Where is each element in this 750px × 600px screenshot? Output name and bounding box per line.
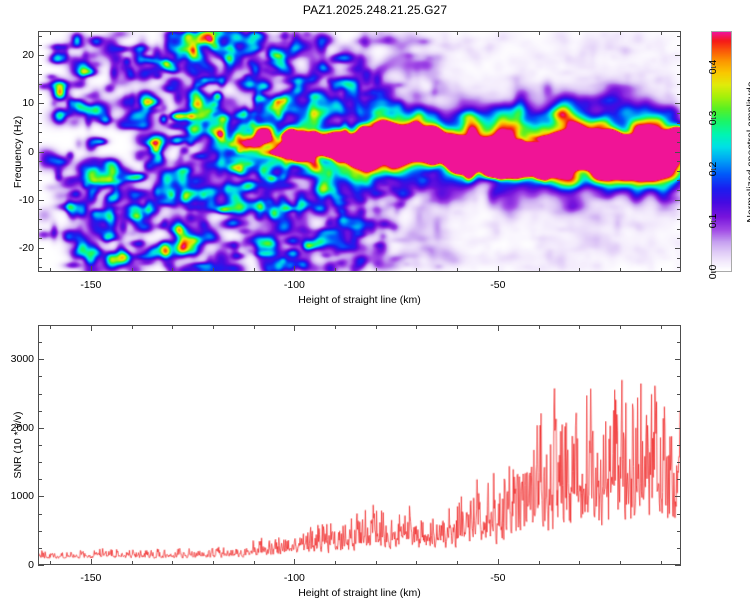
spectrogram-x-axis-title: Height of straight line (km) [298,294,421,306]
y-tick [677,94,681,95]
x-tick [172,268,173,272]
y-tick [677,514,681,515]
snr-line-trace [39,326,680,564]
x-tick [498,325,499,331]
y-tick [677,376,681,377]
y-tick [677,238,681,239]
y-tick [38,142,42,143]
x-tick [254,561,255,565]
x-tick [213,325,214,329]
y-tick [38,248,44,249]
x-tick-label: -100 [284,572,305,584]
y-tick [38,45,42,46]
y-tick-label: 20 [10,49,34,61]
y-tick [38,74,42,75]
x-tick [661,561,662,565]
y-tick [677,394,681,395]
x-tick [620,31,621,35]
spectrogram-image [39,32,680,271]
y-tick [677,180,681,181]
y-tick [38,496,44,497]
x-tick [335,561,336,565]
x-tick [579,325,580,329]
y-tick [38,123,42,124]
x-tick [50,268,51,272]
y-tick [38,84,42,85]
y-tick [38,462,42,463]
x-tick [254,325,255,329]
y-tick [677,411,681,412]
y-tick [677,229,681,230]
y-tick [675,103,681,104]
x-tick [91,559,92,565]
x-tick [539,325,540,329]
x-tick [457,31,458,35]
x-tick [91,325,92,331]
x-tick [50,561,51,565]
x-tick [172,31,173,35]
colorbar-tick-label: 0.3 [707,111,719,126]
x-tick [335,268,336,272]
y-tick [38,376,42,377]
x-tick [294,266,295,272]
y-tick [677,209,681,210]
x-tick [376,31,377,35]
y-tick [38,267,42,268]
y-tick [38,55,44,56]
y-tick [38,479,42,480]
y-tick [677,190,681,191]
x-tick [457,561,458,565]
x-tick [132,31,133,35]
figure-canvas: PAZ1.2025.248.21.25.G27 -150-100-50-20-1… [0,0,750,600]
x-tick [539,31,540,35]
x-tick [661,31,662,35]
y-tick [38,161,42,162]
x-tick [91,31,92,37]
x-tick [579,561,580,565]
y-tick [677,342,681,343]
figure-title: PAZ1.2025.248.21.25.G27 [0,3,750,17]
x-tick [416,325,417,329]
x-tick [539,561,540,565]
y-tick [677,142,681,143]
y-tick [677,462,681,463]
x-tick [335,325,336,329]
x-tick [376,268,377,272]
y-tick [38,531,42,532]
y-tick [38,132,42,133]
x-tick [294,325,295,331]
x-tick [213,561,214,565]
y-tick [677,548,681,549]
y-tick [677,171,681,172]
x-tick [498,266,499,272]
y-tick [38,394,42,395]
y-tick [38,190,42,191]
y-tick [38,36,42,37]
x-tick [498,559,499,565]
x-tick [661,268,662,272]
y-tick-label: -10 [10,194,34,206]
y-tick [38,359,44,360]
y-tick [675,55,681,56]
x-tick-label: -150 [80,572,101,584]
y-tick [38,180,42,181]
y-tick [38,258,42,259]
x-tick [132,325,133,329]
y-tick [677,132,681,133]
x-tick [376,561,377,565]
y-tick [38,445,42,446]
x-tick [213,268,214,272]
x-tick [498,31,499,37]
x-tick [579,268,580,272]
x-tick [172,325,173,329]
y-tick [38,238,42,239]
x-tick [416,561,417,565]
x-tick [294,31,295,37]
y-tick [677,65,681,66]
y-tick [38,548,42,549]
y-tick [38,171,42,172]
x-tick [457,268,458,272]
y-tick [38,200,44,201]
x-tick [457,325,458,329]
x-tick [335,31,336,35]
x-tick [50,325,51,329]
y-tick [38,219,42,220]
spectrogram-y-axis-title: Frequency (Hz) [12,115,24,187]
x-tick-label: -100 [284,279,305,291]
x-tick [376,325,377,329]
snr-plot-area [38,325,681,565]
y-tick-label: -20 [10,242,34,254]
snr-y-axis-title: SNR (10 * v/v) [12,411,24,478]
x-tick [50,31,51,35]
y-tick [38,565,44,566]
x-tick [661,325,662,329]
x-tick [132,561,133,565]
y-tick [675,496,681,497]
colorbar-tick-label: 0.1 [707,213,719,228]
x-tick [254,268,255,272]
y-tick-label: 1000 [4,490,34,502]
y-tick [677,74,681,75]
y-tick [677,258,681,259]
y-tick [675,565,681,566]
y-tick [677,479,681,480]
y-tick [677,113,681,114]
x-tick-label: -150 [80,279,101,291]
x-tick [254,31,255,35]
y-tick-label: 0 [4,559,34,571]
y-tick [38,94,42,95]
x-tick [91,266,92,272]
spectrogram-plot-area [38,31,681,272]
y-tick [38,342,42,343]
x-tick [416,268,417,272]
y-tick [677,445,681,446]
y-tick [677,123,681,124]
colorbar-tick-label: 0.4 [707,60,719,75]
y-tick [677,161,681,162]
y-tick [675,359,681,360]
y-tick [38,103,44,104]
x-tick [213,31,214,35]
y-tick [38,65,42,66]
x-tick [539,268,540,272]
x-tick [579,31,580,35]
colorbar-tick-label: 0.2 [707,162,719,177]
x-tick [620,561,621,565]
y-tick [38,514,42,515]
x-tick [294,559,295,565]
y-tick [675,248,681,249]
y-tick [38,428,44,429]
y-tick [675,152,681,153]
y-tick [38,152,44,153]
y-tick [38,229,42,230]
x-tick [620,325,621,329]
y-tick [677,45,681,46]
y-tick [38,209,42,210]
x-tick [620,268,621,272]
y-tick [677,531,681,532]
x-tick [416,31,417,35]
y-tick-label: 10 [10,97,34,109]
y-tick [677,267,681,268]
y-tick [38,113,42,114]
colorbar-title: Normalized spectral amplitude [745,81,750,222]
y-tick [675,200,681,201]
x-tick [172,561,173,565]
y-tick [38,411,42,412]
snr-x-axis-title: Height of straight line (km) [298,587,421,599]
y-tick [677,36,681,37]
y-tick [677,219,681,220]
y-tick-label: 3000 [4,353,34,365]
x-tick-label: -50 [490,572,505,584]
y-tick [675,428,681,429]
x-tick-label: -50 [490,279,505,291]
x-tick [132,268,133,272]
y-tick [677,84,681,85]
colorbar-tick-label: 0.0 [707,265,719,280]
